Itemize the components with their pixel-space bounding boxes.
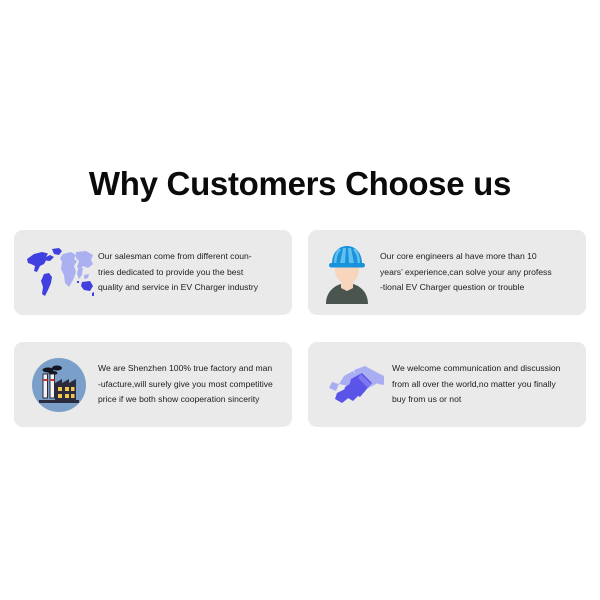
benefit-card-text: Our core engineers al have more than 10 …	[378, 249, 576, 296]
benefit-card-text: Our salesman come from different coun- t…	[96, 249, 282, 296]
benefit-card-true-factory[interactable]: We are Shenzhen 100% true factory and ma…	[14, 342, 292, 427]
world-map-icon	[22, 236, 96, 310]
page-title: Why Customers Choose us	[0, 165, 600, 203]
benefits-grid: Our salesman come from different coun- t…	[14, 230, 586, 427]
benefit-card-text: We are Shenzhen 100% true factory and ma…	[96, 361, 282, 408]
factory-icon	[22, 348, 96, 422]
benefit-card-experienced-engineers[interactable]: Our core engineers al have more than 10 …	[308, 230, 586, 315]
benefit-card-global-sales[interactable]: Our salesman come from different coun- t…	[14, 230, 292, 315]
benefit-card-text: We welcome communication and discussion …	[390, 361, 576, 408]
slide-page: Why Customers Choose us	[0, 0, 600, 600]
benefit-card-welcome-communication[interactable]: We welcome communication and discussion …	[308, 342, 586, 427]
handshake-icon	[316, 348, 390, 422]
engineer-helmet-icon	[316, 236, 378, 310]
